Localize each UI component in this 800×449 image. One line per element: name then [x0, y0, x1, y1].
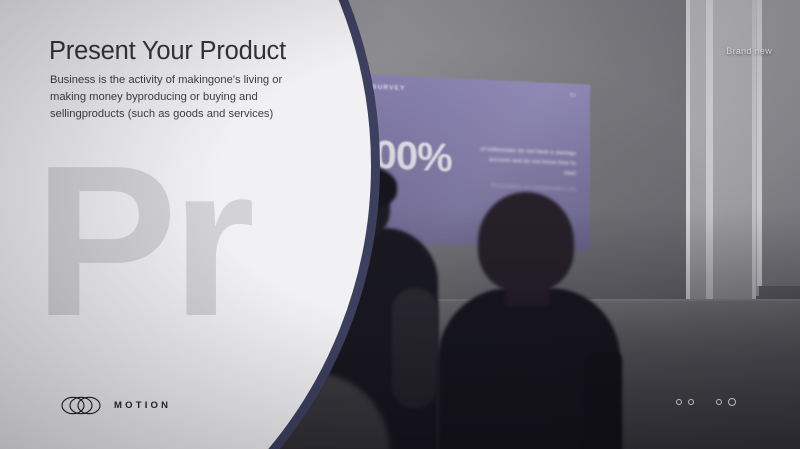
pagination-dot-3[interactable]: [716, 399, 722, 405]
presentation-slide: BASED ON A SURVEY 85 85.00% of millennia…: [0, 0, 800, 449]
attendee-2-head: [478, 192, 574, 292]
projection-corner-mark: 85: [569, 93, 576, 99]
attendee-2-chair: [584, 352, 622, 449]
pagination-dot-4[interactable]: [728, 398, 736, 406]
door-frame: [706, 0, 713, 326]
exterior-window: [757, 0, 800, 286]
brand-logo-text: MOTION: [114, 400, 171, 411]
three-overlapping-ellipses-icon: [61, 396, 103, 415]
body-text: Business is the activity of makingone's …: [50, 72, 300, 123]
pagination-spacer: [700, 402, 710, 403]
arc-panel: Pr Present Your Product Business is the …: [0, 0, 380, 449]
projection-body: of millennials do not have a savings acc…: [480, 146, 576, 180]
brand-logo: MOTION: [61, 396, 171, 415]
pagination-dot-1[interactable]: [676, 399, 682, 405]
page-title: Present Your Product: [49, 37, 286, 66]
pagination-dot-2[interactable]: [688, 399, 694, 405]
brand-new-label: Brand new: [726, 46, 772, 56]
pagination-dots[interactable]: [676, 398, 736, 406]
attendee-1-arm: [392, 288, 438, 408]
